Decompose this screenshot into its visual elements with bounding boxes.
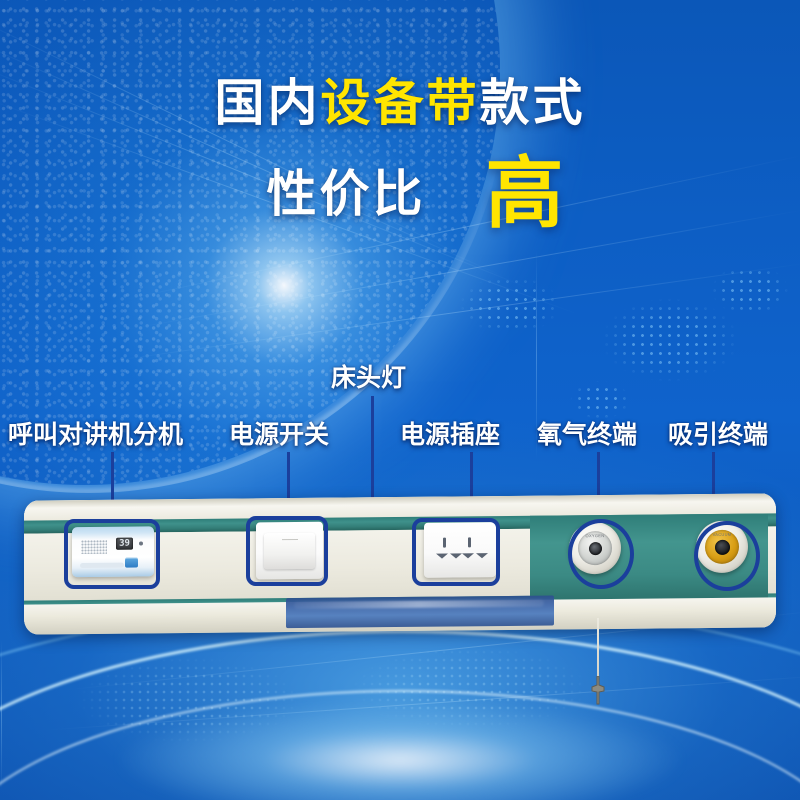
headline-part-2: 款式 — [480, 75, 586, 131]
headline-subtext: 性价比 — [266, 169, 425, 219]
highlight-socket — [412, 518, 500, 586]
highlight-switch — [246, 516, 328, 586]
headline-accent: 设备带 — [321, 75, 480, 131]
horizon-glow — [120, 700, 680, 800]
headline-line-2: 性价比 高 — [0, 158, 800, 230]
pull-cord-handle-icon[interactable] — [586, 676, 610, 706]
callout-suction-terminal[interactable]: 吸引终端 — [668, 415, 768, 451]
headline-line-1: 国内设备带款式 — [0, 78, 800, 128]
callout-power-socket[interactable]: 电源插座 — [400, 415, 500, 451]
callout-power-switch[interactable]: 电源开关 — [229, 415, 329, 451]
callout-intercom[interactable]: 呼叫对讲机分机 — [8, 415, 183, 451]
promo-banner: 国内设备带款式 性价比 高 呼叫对讲机分机 电源开关 床头灯 电源插座 氧气终端… — [0, 0, 800, 800]
headline-big-char: 高 — [485, 158, 563, 230]
headline-block: 国内设备带款式 性价比 高 — [0, 78, 800, 230]
callout-bed-lamp[interactable]: 床头灯 — [331, 358, 406, 394]
callout-oxygen-terminal[interactable]: 氧气终端 — [537, 415, 637, 451]
highlight-intercom — [64, 519, 160, 589]
highlight-suction — [694, 521, 760, 591]
world-map-dots — [440, 250, 800, 440]
highlight-oxygen — [568, 519, 634, 589]
headline-part-1: 国内 — [215, 75, 321, 131]
